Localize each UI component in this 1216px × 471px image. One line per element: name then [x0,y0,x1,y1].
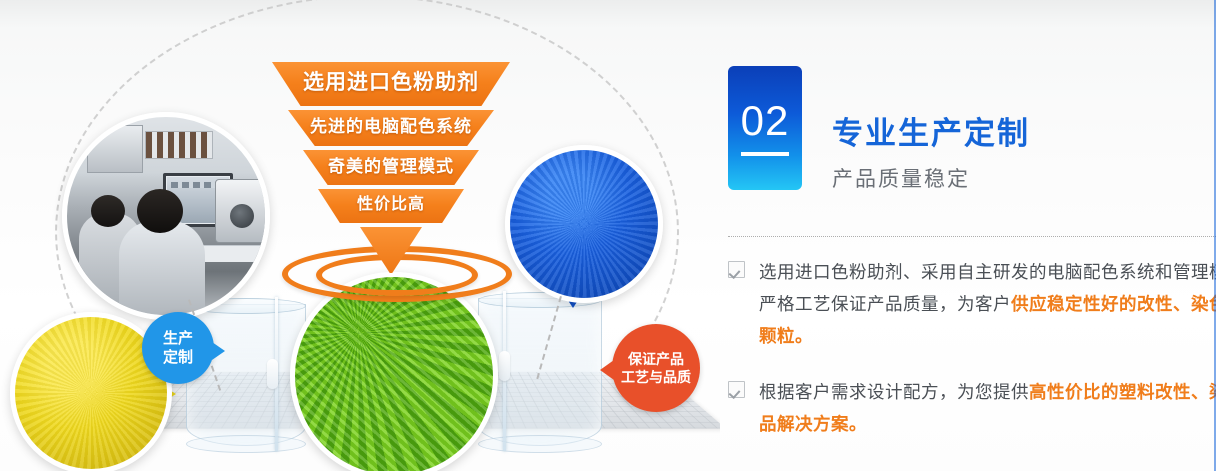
callout-line: 定制 [163,348,193,368]
content-panel: 02 专业生产定制 产品质量稳定 选用进口色粉助剂、采用自主研发的电脑配色系统和… [720,0,1216,471]
bullet-text-2: 根据客户需求设计配方，为您提供高性价比的塑料改性、染色产品解决方案。 [759,376,1216,440]
callout-line: 生产 [163,329,193,349]
body-text: 严格工艺保证产品质量，为客户 [759,294,1011,314]
bullet-list: 选用进口色粉助剂、采用自主研发的电脑配色系统和管理模式，严格工艺保证产品质量，为… [728,256,1216,464]
bullet-line: 品解决方案。 [759,408,1216,440]
highlight-text: 供应稳定性好的改性、染色塑料 [1011,294,1216,314]
photo-worker-head [91,195,125,227]
photo-worker-head [137,189,183,233]
photo-cabinet [87,125,143,173]
section-number: 02 [741,100,790,156]
lab-workers-photo [62,112,270,320]
highlight-text: 颗粒。 [759,326,813,346]
highlight-text: 高性价比的塑料改性、染色产 [1029,382,1216,402]
bullet-line: 选用进口色粉助剂、采用自主研发的电脑配色系统和管理模式， [759,256,1216,288]
promo-banner: 选用进口色粉助剂 先进的电脑配色系统 奇美的管理模式 性价比高 生产 定制 保证… [0,0,1216,471]
cylinder-handle [499,351,510,381]
bullet-text-1: 选用进口色粉助剂、采用自主研发的电脑配色系统和管理模式，严格工艺保证产品质量，为… [759,256,1216,352]
body-text: 根据客户需求设计配方，为您提供 [759,382,1029,402]
photo-control-panel [145,131,213,159]
photo-worker-front [119,221,205,317]
body-text: 选用进口色粉助剂、采用自主研发的电脑配色系统和管理模式， [759,262,1216,282]
funnel-band-2: 先进的电脑配色系统 [288,110,494,146]
callout-pointer [212,342,225,360]
cylinder-base [478,435,602,453]
checkbox-icon [728,381,745,398]
photo-machine [215,179,269,243]
illustration-panel: 选用进口色粉助剂 先进的电脑配色系统 奇美的管理模式 性价比高 生产 定制 保证… [0,0,720,471]
section-number-badge: 02 [728,66,802,190]
callout-line: 保证产品 [628,350,684,368]
callout-pointer [600,360,614,380]
callout-quality-assurance: 保证产品 工艺与品质 [612,324,700,412]
callout-line: 工艺与品质 [621,368,691,386]
funnel-band-1: 选用进口色粉助剂 [272,62,510,106]
funnel-graphic: 选用进口色粉助剂 先进的电脑配色系统 奇美的管理模式 性价比高 [262,62,520,262]
list-item: 根据客户需求设计配方，为您提供高性价比的塑料改性、染色产品解决方案。 [728,376,1216,440]
page-title: 专业生产定制 [832,108,1030,153]
bullet-line: 根据客户需求设计配方，为您提供高性价比的塑料改性、染色产 [759,376,1216,408]
bullet-line: 颗粒。 [759,320,1216,352]
bullet-line: 严格工艺保证产品质量，为客户供应稳定性好的改性、染色塑料 [759,288,1216,320]
cylinder-handle [267,359,278,389]
callout-production-customization: 生产 定制 [142,312,214,384]
funnel-band-3: 奇美的管理模式 [303,150,479,185]
page-subtitle: 产品质量稳定 [832,163,1030,193]
highlight-text: 品解决方案。 [759,414,867,434]
funnel-band-4: 性价比高 [318,189,464,223]
cylinder-base [186,435,306,453]
heading-group: 专业生产定制 产品质量稳定 [832,108,1030,193]
blue-powder [505,145,663,303]
checkbox-icon [728,261,745,278]
divider [728,236,1216,237]
list-item: 选用进口色粉助剂、采用自主研发的电脑配色系统和管理模式，严格工艺保证产品质量，为… [728,256,1216,352]
